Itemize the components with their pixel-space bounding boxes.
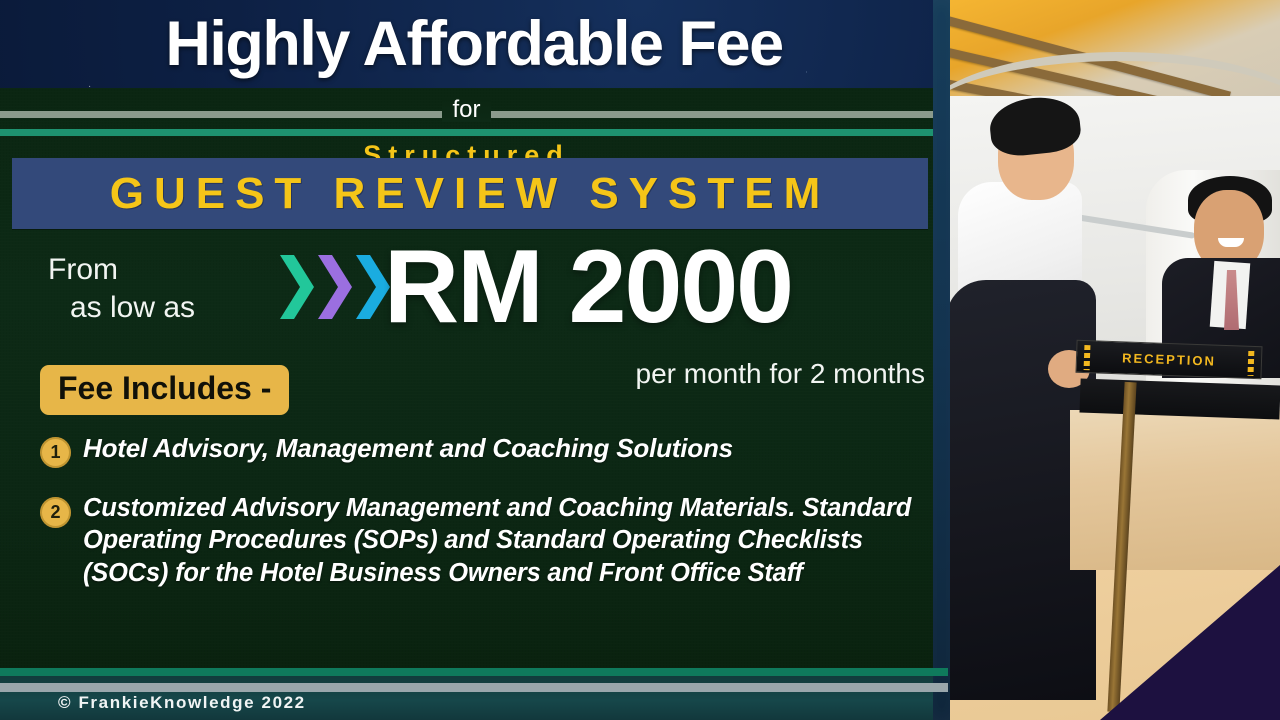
guest-review-system-banner: GUEST REVIEW SYSTEM — [12, 158, 928, 229]
sign-bars-right-icon — [1247, 351, 1254, 376]
chevron-arrows-group — [278, 253, 392, 321]
from-line-1: From — [48, 251, 195, 289]
chevron-green-icon — [278, 253, 316, 321]
price-row: From as low as RM 2000 per month for 2 m… — [0, 245, 933, 355]
list-item-text: Customized Advisory Management and Coach… — [83, 492, 920, 589]
from-block: From as low as — [48, 251, 195, 328]
copyright-text: © FrankieKnowledge 2022 — [58, 694, 306, 711]
reception-sign-label: RECEPTION — [1122, 350, 1216, 368]
footer-divider-green — [0, 668, 948, 676]
banner-title: GUEST REVIEW SYSTEM — [110, 172, 831, 216]
photo-desk-top — [1079, 379, 1280, 420]
for-label: for — [442, 98, 490, 122]
list-item-text: Hotel Advisory, Management and Coaching … — [83, 432, 733, 465]
bullet-number-icon: 1 — [40, 437, 71, 468]
price-amount: RM 2000 — [384, 235, 792, 339]
photo-reception-sign: RECEPTION — [1075, 340, 1262, 379]
header-band: Highly Affordable Fee — [0, 0, 948, 88]
photo-reception-counter — [1070, 410, 1280, 570]
sky-gutter — [933, 0, 950, 720]
reception-photo: RECEPTION — [950, 0, 1280, 720]
list-item: 2 Customized Advisory Management and Coa… — [40, 492, 920, 589]
sign-bars-left-icon — [1084, 345, 1091, 370]
fee-includes-list: 1 Hotel Advisory, Management and Coachin… — [40, 432, 920, 613]
footer-divider-gray — [0, 683, 948, 692]
promo-slide: Highly Affordable Fee for Structured GUE… — [0, 0, 1280, 720]
chevron-purple-icon — [316, 253, 354, 321]
page-title: Highly Affordable Fee — [165, 13, 782, 76]
fee-includes-badge: Fee Includes - — [40, 365, 289, 415]
from-line-2: as low as — [48, 289, 195, 327]
for-row: for — [0, 88, 933, 132]
list-item: 1 Hotel Advisory, Management and Coachin… — [40, 432, 920, 468]
bullet-number-icon: 2 — [40, 497, 71, 528]
corner-triangle-accent — [1100, 565, 1280, 720]
